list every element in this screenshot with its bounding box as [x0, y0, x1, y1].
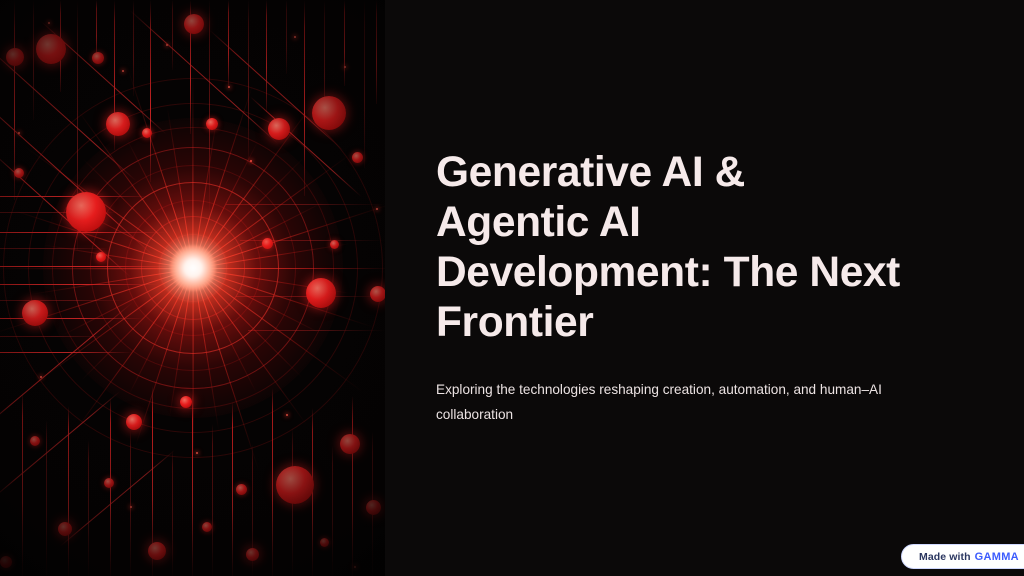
circuit-burst-image	[0, 0, 385, 576]
content-panel: Generative AI & Agentic AI Development: …	[385, 0, 1024, 576]
badge-prefix-label: Made with	[919, 551, 971, 563]
image-vignette	[0, 0, 385, 576]
made-with-gamma-badge[interactable]: Made with GAMMA	[901, 544, 1024, 569]
slide-subtitle: Exploring the technologies reshaping cre…	[436, 377, 941, 427]
slide-canvas: Generative AI & Agentic AI Development: …	[0, 0, 1024, 576]
slide-title: Generative AI & Agentic AI Development: …	[436, 148, 906, 348]
gamma-wordmark: GAMMA	[975, 551, 1019, 563]
